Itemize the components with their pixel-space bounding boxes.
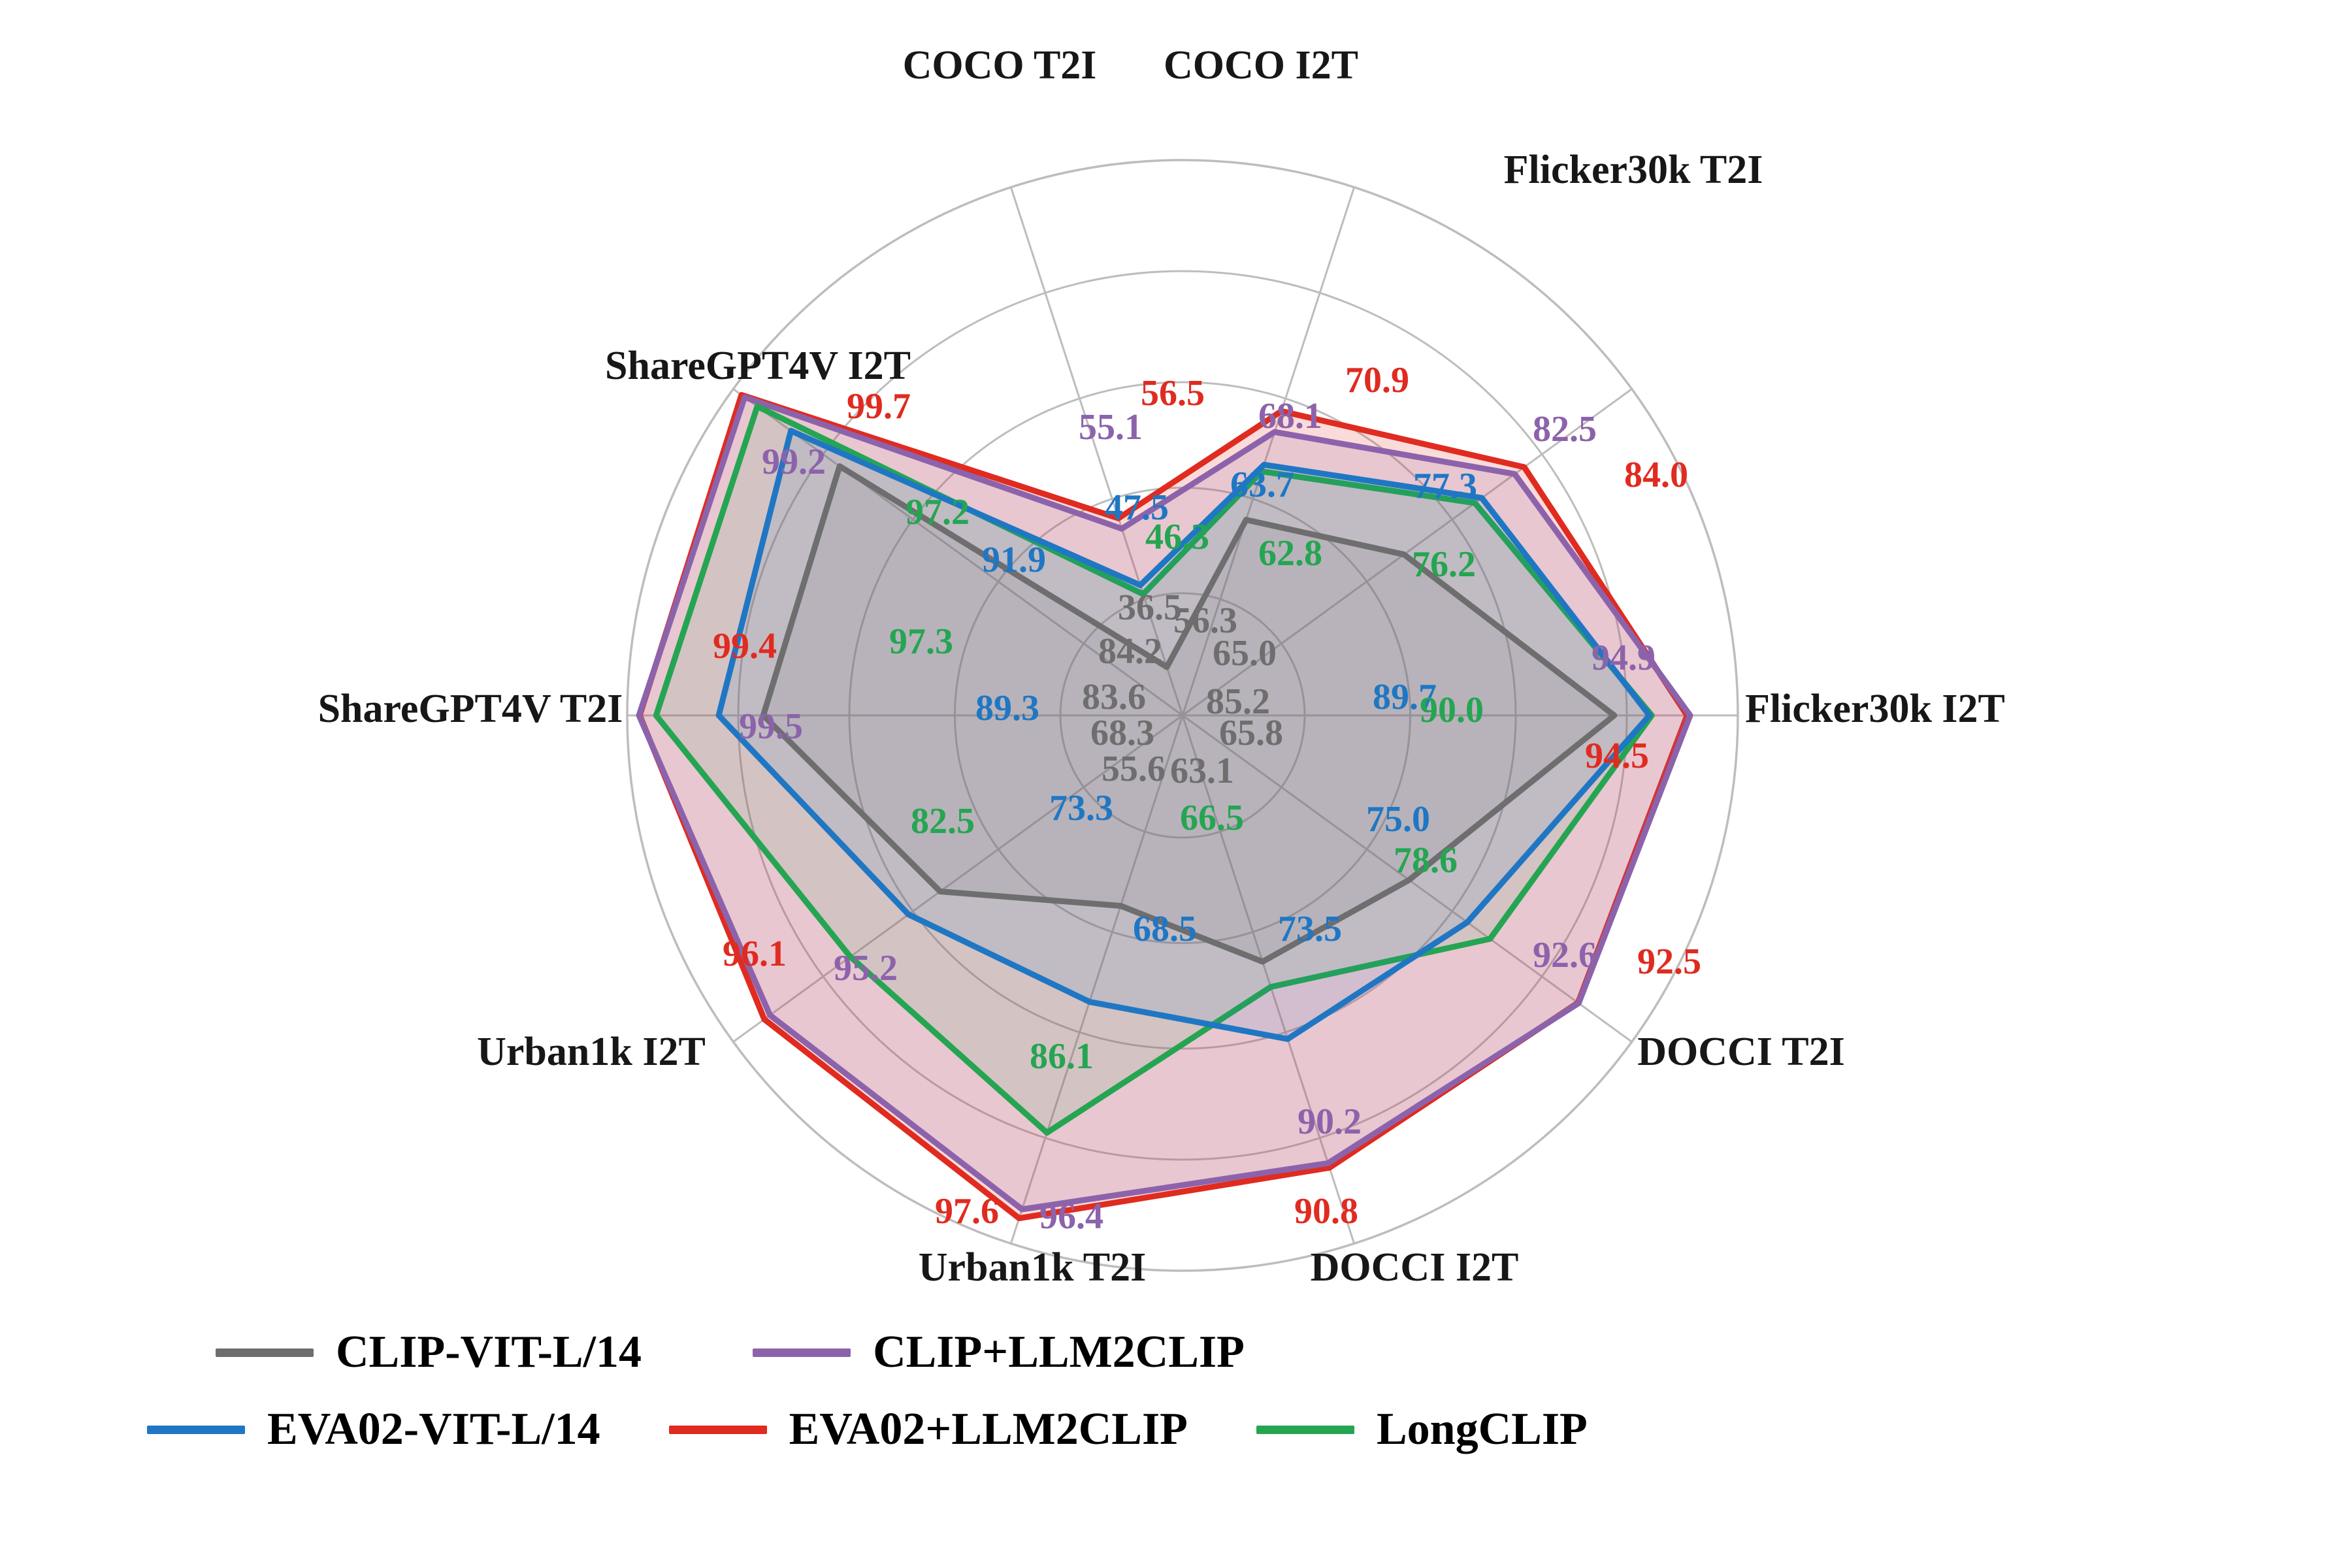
axis-label: DOCCI T2I [1637,1030,1845,1074]
legend-item[interactable]: EVA02-VIT-L/14 [147,1403,600,1456]
data-value-label: 68.5 [1133,909,1197,949]
legend-item[interactable]: LongCLIP [1256,1403,1588,1456]
axis-label: Urban1k T2I [919,1245,1147,1290]
data-value-label: 55.6 [1102,749,1166,789]
data-value-label: 77.3 [1413,466,1477,506]
legend-item[interactable]: CLIP+LLM2CLIP [753,1326,1245,1379]
data-value-label: 89.3 [975,688,1039,728]
legend-item[interactable]: EVA02+LLM2CLIP [669,1403,1188,1456]
axis-label: Urban1k I2T [477,1030,706,1074]
legend-label: CLIP+LLM2CLIP [873,1326,1245,1379]
data-value-label: 86.1 [1030,1036,1094,1077]
data-value-label: 63.1 [1170,751,1234,791]
data-value-label: 73.3 [1049,788,1113,828]
data-value-label: 99.2 [762,442,826,482]
data-value-label: 96.1 [723,934,787,974]
data-value-label: 91.9 [982,540,1046,580]
data-value-label: 75.0 [1366,799,1430,840]
data-value-label: 63.7 [1230,465,1294,505]
data-value-label: 99.7 [847,386,911,427]
data-value-label: 94.9 [1592,638,1656,678]
data-value-label: 68.3 [1090,713,1154,753]
data-value-label: 78.6 [1394,840,1458,881]
data-value-label: 99.5 [739,706,803,747]
data-value-label: 95.2 [834,948,898,988]
data-value-label: 73.5 [1278,909,1342,949]
legend-color-swatch [753,1348,851,1357]
data-value-label: 82.5 [911,801,975,841]
legend-color-swatch [1256,1426,1354,1434]
legend-color-swatch [669,1426,767,1434]
data-value-label: 84.0 [1624,455,1688,495]
legend-label: LongCLIP [1377,1403,1588,1456]
data-value-label: 83.6 [1082,677,1146,717]
data-value-label: 90.2 [1298,1102,1362,1142]
data-value-label: 56.5 [1141,373,1205,414]
radar-chart: COCO T2ICOCO I2TFlicker30k T2IFlicker30k… [0,0,2352,1307]
chart-legend: CLIP-VIT-L/14CLIP+LLM2CLIPEVA02-VIT-L/14… [0,1326,2352,1480]
data-value-label: 66.5 [1180,798,1244,838]
data-value-label: 97.6 [935,1191,999,1232]
data-value-label: 96.4 [1039,1196,1103,1237]
data-value-label: 55.1 [1079,407,1143,448]
data-value-label: 65.8 [1219,713,1283,753]
data-value-label: 65.0 [1213,633,1277,674]
legend-label: EVA02-VIT-L/14 [267,1403,600,1456]
data-value-label: 36.5 [1118,587,1182,628]
data-value-label: 76.2 [1412,544,1476,585]
chart-page: COCO T2ICOCO I2TFlicker30k T2IFlicker30k… [0,0,2352,1568]
data-value-label: 68.1 [1258,396,1322,436]
data-value-label: 97.2 [906,492,970,532]
axis-label: Flicker30k I2T [1745,687,2005,731]
data-value-label: 92.5 [1637,941,1701,982]
axis-label: DOCCI I2T [1311,1245,1519,1290]
data-value-label: 82.5 [1533,409,1597,449]
data-value-label: 62.8 [1258,533,1322,574]
legend-row: CLIP-VIT-L/14CLIP+LLM2CLIP [0,1326,2352,1379]
axis-label: ShareGPT4V I2T [605,344,911,388]
axis-label: COCO I2T [1164,43,1358,88]
data-value-label: 99.4 [713,626,777,666]
data-value-label: 70.9 [1345,360,1409,400]
axis-label: ShareGPT4V T2I [318,687,623,731]
data-value-label: 97.3 [889,621,953,662]
legend-item[interactable]: CLIP-VIT-L/14 [216,1326,642,1379]
data-value-label: 46.3 [1145,517,1209,557]
data-value-label: 92.6 [1533,935,1597,975]
legend-label: CLIP-VIT-L/14 [336,1326,642,1379]
legend-color-swatch [147,1426,245,1434]
axis-label: COCO T2I [903,43,1097,88]
data-value-label: 90.8 [1294,1191,1358,1232]
legend-color-swatch [216,1348,314,1357]
axis-label: Flicker30k T2I [1504,148,1763,192]
data-value-label: 90.0 [1420,690,1484,730]
data-value-label: 84.2 [1098,631,1162,672]
legend-row: EVA02-VIT-L/14EVA02+LLM2CLIPLongCLIP [0,1403,2352,1456]
legend-label: EVA02+LLM2CLIP [789,1403,1188,1456]
data-value-label: 94.5 [1585,736,1649,776]
